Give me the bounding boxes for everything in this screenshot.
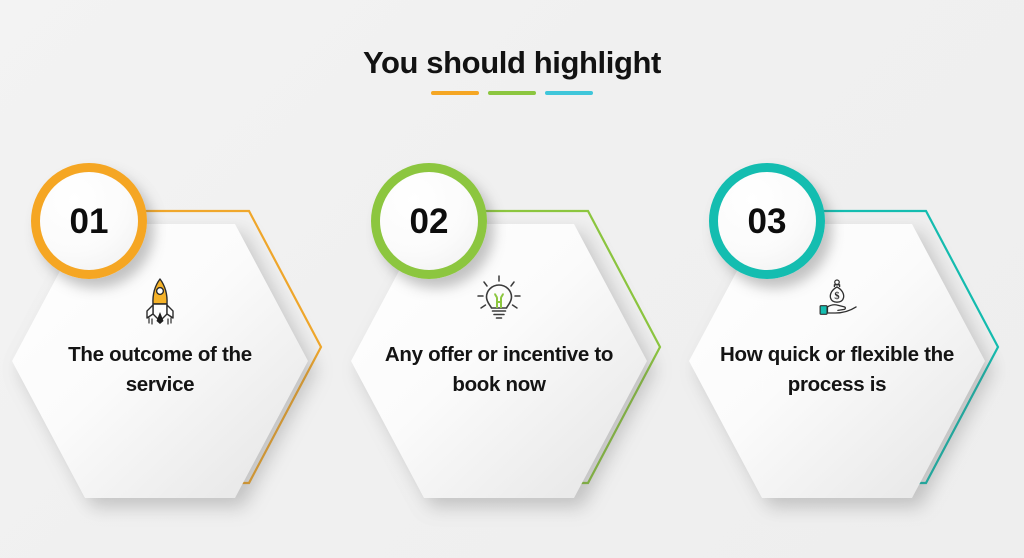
- page-title: You should highlight: [0, 46, 1024, 80]
- step-badge-2[interactable]: 02: [371, 163, 487, 279]
- rule-cyan-divider: [545, 91, 593, 95]
- header: You should highlight: [0, 46, 1024, 95]
- rocket-icon: [134, 274, 186, 326]
- svg-text:$: $: [834, 291, 839, 302]
- step-number-1: 01: [70, 204, 109, 239]
- step-badge-1[interactable]: 01: [31, 163, 147, 279]
- rule-orange-divider: [431, 91, 479, 95]
- rule-green-divider: [488, 91, 536, 95]
- card-text-2: Any offer or incentive to book now: [374, 340, 624, 399]
- card-text-3: How quick or flexible the process is: [712, 340, 962, 399]
- step-badge-3[interactable]: 03: [709, 163, 825, 279]
- infographic-slide: You should highlight: [0, 0, 1024, 558]
- title-underline-group: [0, 91, 1024, 95]
- money-in-hand-icon: $: [811, 274, 863, 326]
- step-number-3: 03: [748, 204, 787, 239]
- card-text-1: The outcome of the service: [35, 340, 285, 399]
- step-number-2: 02: [410, 204, 449, 239]
- lightbulb-icon: [473, 274, 525, 326]
